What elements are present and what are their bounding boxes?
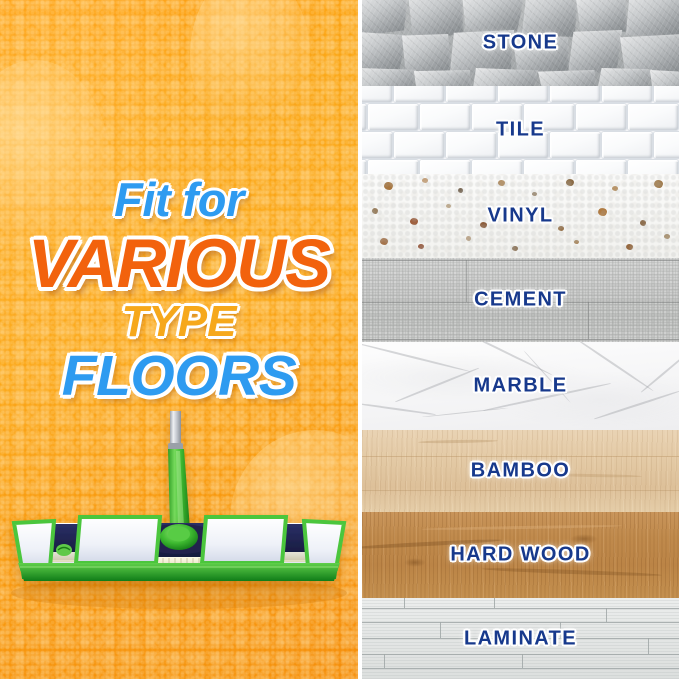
floor-band-tile: TILE (362, 86, 679, 174)
floor-label-hardwood: HARD WOOD (362, 544, 679, 567)
floor-types-panel: STONE (362, 0, 679, 679)
floor-label-cement: CEMENT (362, 289, 679, 312)
headline-line-floors: FLOORS (0, 348, 358, 405)
floor-band-hardwood: HARD WOOD (362, 512, 679, 598)
floor-band-stone: STONE (362, 0, 679, 86)
floor-label-tile: TILE (362, 119, 679, 142)
headline-line-various: VARIOUS (0, 229, 358, 298)
floor-band-vinyl: VINYL (362, 174, 679, 258)
headline-line-type: TYPE (0, 300, 358, 344)
product-image-flat-mop (0, 411, 358, 631)
headline-block: Fit for VARIOUS TYPE FLOORS (0, 176, 358, 405)
floor-label-marble: MARBLE (362, 375, 679, 398)
floor-label-vinyl: VINYL (362, 205, 679, 228)
floor-band-bamboo: BAMBOO (362, 430, 679, 512)
floor-band-cement: CEMENT (362, 258, 679, 342)
mop-bottom-lip (18, 563, 340, 581)
mop-end-left (14, 521, 54, 569)
mop-flap-left (76, 517, 160, 563)
floor-band-marble: MARBLE (362, 342, 679, 430)
floor-label-bamboo: BAMBOO (362, 460, 679, 483)
product-banner: Fit for VARIOUS TYPE FLOORS (0, 0, 679, 679)
left-promo-panel: Fit for VARIOUS TYPE FLOORS (0, 0, 358, 679)
mop-svg (0, 411, 358, 631)
floor-label-laminate: LAMINATE (362, 627, 679, 650)
mop-shadow (11, 577, 347, 609)
panel-divider (358, 0, 362, 679)
highlight-blob-2 (190, 0, 310, 140)
headline-line-fit-for: Fit for (0, 176, 358, 223)
floor-band-laminate: LAMINATE (362, 598, 679, 679)
floor-label-stone: STONE (362, 32, 679, 55)
mop-flap-right (202, 517, 286, 563)
mop-end-right (304, 521, 344, 569)
mop-head (14, 517, 344, 581)
mop-handle (168, 411, 190, 533)
